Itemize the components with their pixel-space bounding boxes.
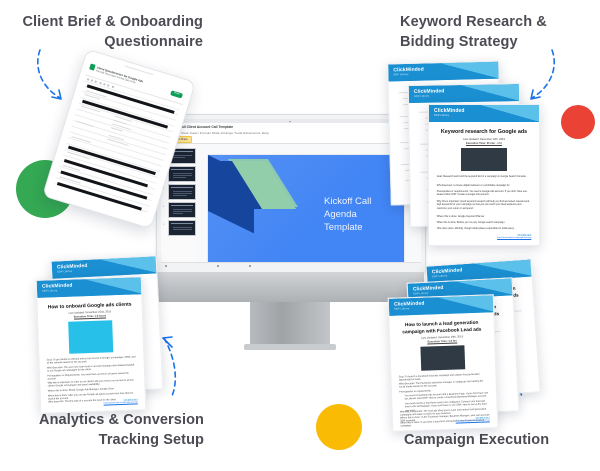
imac-desktop-monitor: Kickoff Call Client Account Call Templat… [156,114,424,342]
monitor-bezel: Kickoff Call Client Account Call Templat… [156,114,426,273]
doc-paragraph: How often done: Monthly, though initial … [437,227,532,230]
doc-paragraph: Why this is important: Good keyword rese… [437,200,532,210]
doc-footer: ClickMinded http://clickminded.com/googl… [455,416,489,424]
doc-duration: Execution Time: 1-2 hrs [428,340,457,345]
monitor-screen: Kickoff Call Client Account Call Templat… [161,119,421,269]
clickminded-logo: ClickMindedSOP Library [413,285,444,296]
slide-thumbnail[interactable] [168,202,196,218]
google-sheets-icon [89,63,96,70]
caption-analytics-tracking: Analytics & Conversion Tracking Setup [22,410,204,450]
paint-format-icon[interactable] [99,81,101,83]
onboarding-doc-front: ClickMindedSOP Library How to onboard Go… [36,276,147,414]
add-slide-icon[interactable] [165,265,167,267]
monitor-stand-foot [244,344,336,350]
clickminded-logo: ClickMindedSOP Library [434,108,465,117]
sheets-share-button[interactable]: Share [170,90,183,98]
doc-paragraph: Goal: Research and build the keyword lis… [437,175,532,178]
bold-icon[interactable] [112,85,114,87]
doc-footer: ClickMinded http://clickminded.com/googl… [103,398,137,406]
slide-canvas-area[interactable]: Kickoff Call Agenda Template [197,144,421,264]
browser-tab-bar [161,119,421,123]
doc-video-thumbnail[interactable] [68,320,113,354]
doc-video-thumbnail[interactable] [420,345,465,371]
clickminded-logo: ClickMindedSOP Library [42,283,73,293]
promo-composition: Client Brief & Onboarding Questionnaire … [0,0,600,471]
monitor-chin [156,272,424,302]
campaign-doc-front: ClickMindedSOP Library How to launch a l… [388,294,499,432]
slide-thumbnail[interactable] [168,220,196,236]
keyword-research-doc-front: ClickMindedSOP Library Keyword research … [428,104,540,246]
slide-thumbnail[interactable] [168,166,196,182]
doc-title: Keyword research for Google ads [438,129,530,136]
clickminded-logo: ClickMindedSOP Library [393,67,424,77]
doc-video-thumbnail[interactable] [461,148,507,171]
active-slide[interactable]: Kickoff Call Agenda Template [208,155,404,265]
slide-number: 5 [163,224,164,226]
google-slides-app: Kickoff Call Client Account Call Templat… [161,119,421,269]
doc-paragraph: When this is done: Before you run any Go… [437,221,532,224]
slides-menu-bar: File Edit View Insert Format Slide Arran… [167,131,269,135]
tab-dot-icon [289,121,291,123]
slide-number: 4 [163,206,164,208]
print-icon[interactable] [95,80,97,82]
speaker-notes-icon[interactable] [217,265,219,267]
monitor-stand-neck [250,302,330,346]
caption-keyword-research: Keyword Research & Bidding Strategy [400,12,586,52]
red-circle-decoration [561,105,595,139]
zoom-icon[interactable] [249,265,251,267]
clickminded-logo: ClickMindedSOP Library [414,88,445,98]
doc-paragraph: Who Executes: In-house digital marketer … [437,184,532,187]
zoom-select-icon[interactable] [103,83,105,85]
doc-paragraph: Where this is done: Google Keyword Plann… [437,215,532,218]
undo-icon[interactable] [87,78,89,80]
slides-status-bar [161,262,421,269]
caption-client-brief: Client Brief & Onboarding Questionnaire [18,12,203,52]
clickminded-logo: ClickMindedSOP Library [394,301,425,311]
redo-icon[interactable] [91,79,93,81]
yellow-circle-decoration [316,404,362,450]
doc-paragraph: Prerequisites or requirements: You need … [437,190,532,197]
currency-icon[interactable] [107,84,109,86]
dashed-arrow-bottom-left-icon [160,336,216,398]
slide-thumbnail[interactable] [168,184,196,200]
doc-duration: Execution Time: 30 min - 1 hr [466,142,502,146]
doc-footer: ClickMinded http://clickminded.com/googl… [497,234,531,240]
clickminded-logo: ClickMindedSOP Library [57,263,88,274]
doc-duration: Execution Time: 1-2 hours [74,314,107,319]
